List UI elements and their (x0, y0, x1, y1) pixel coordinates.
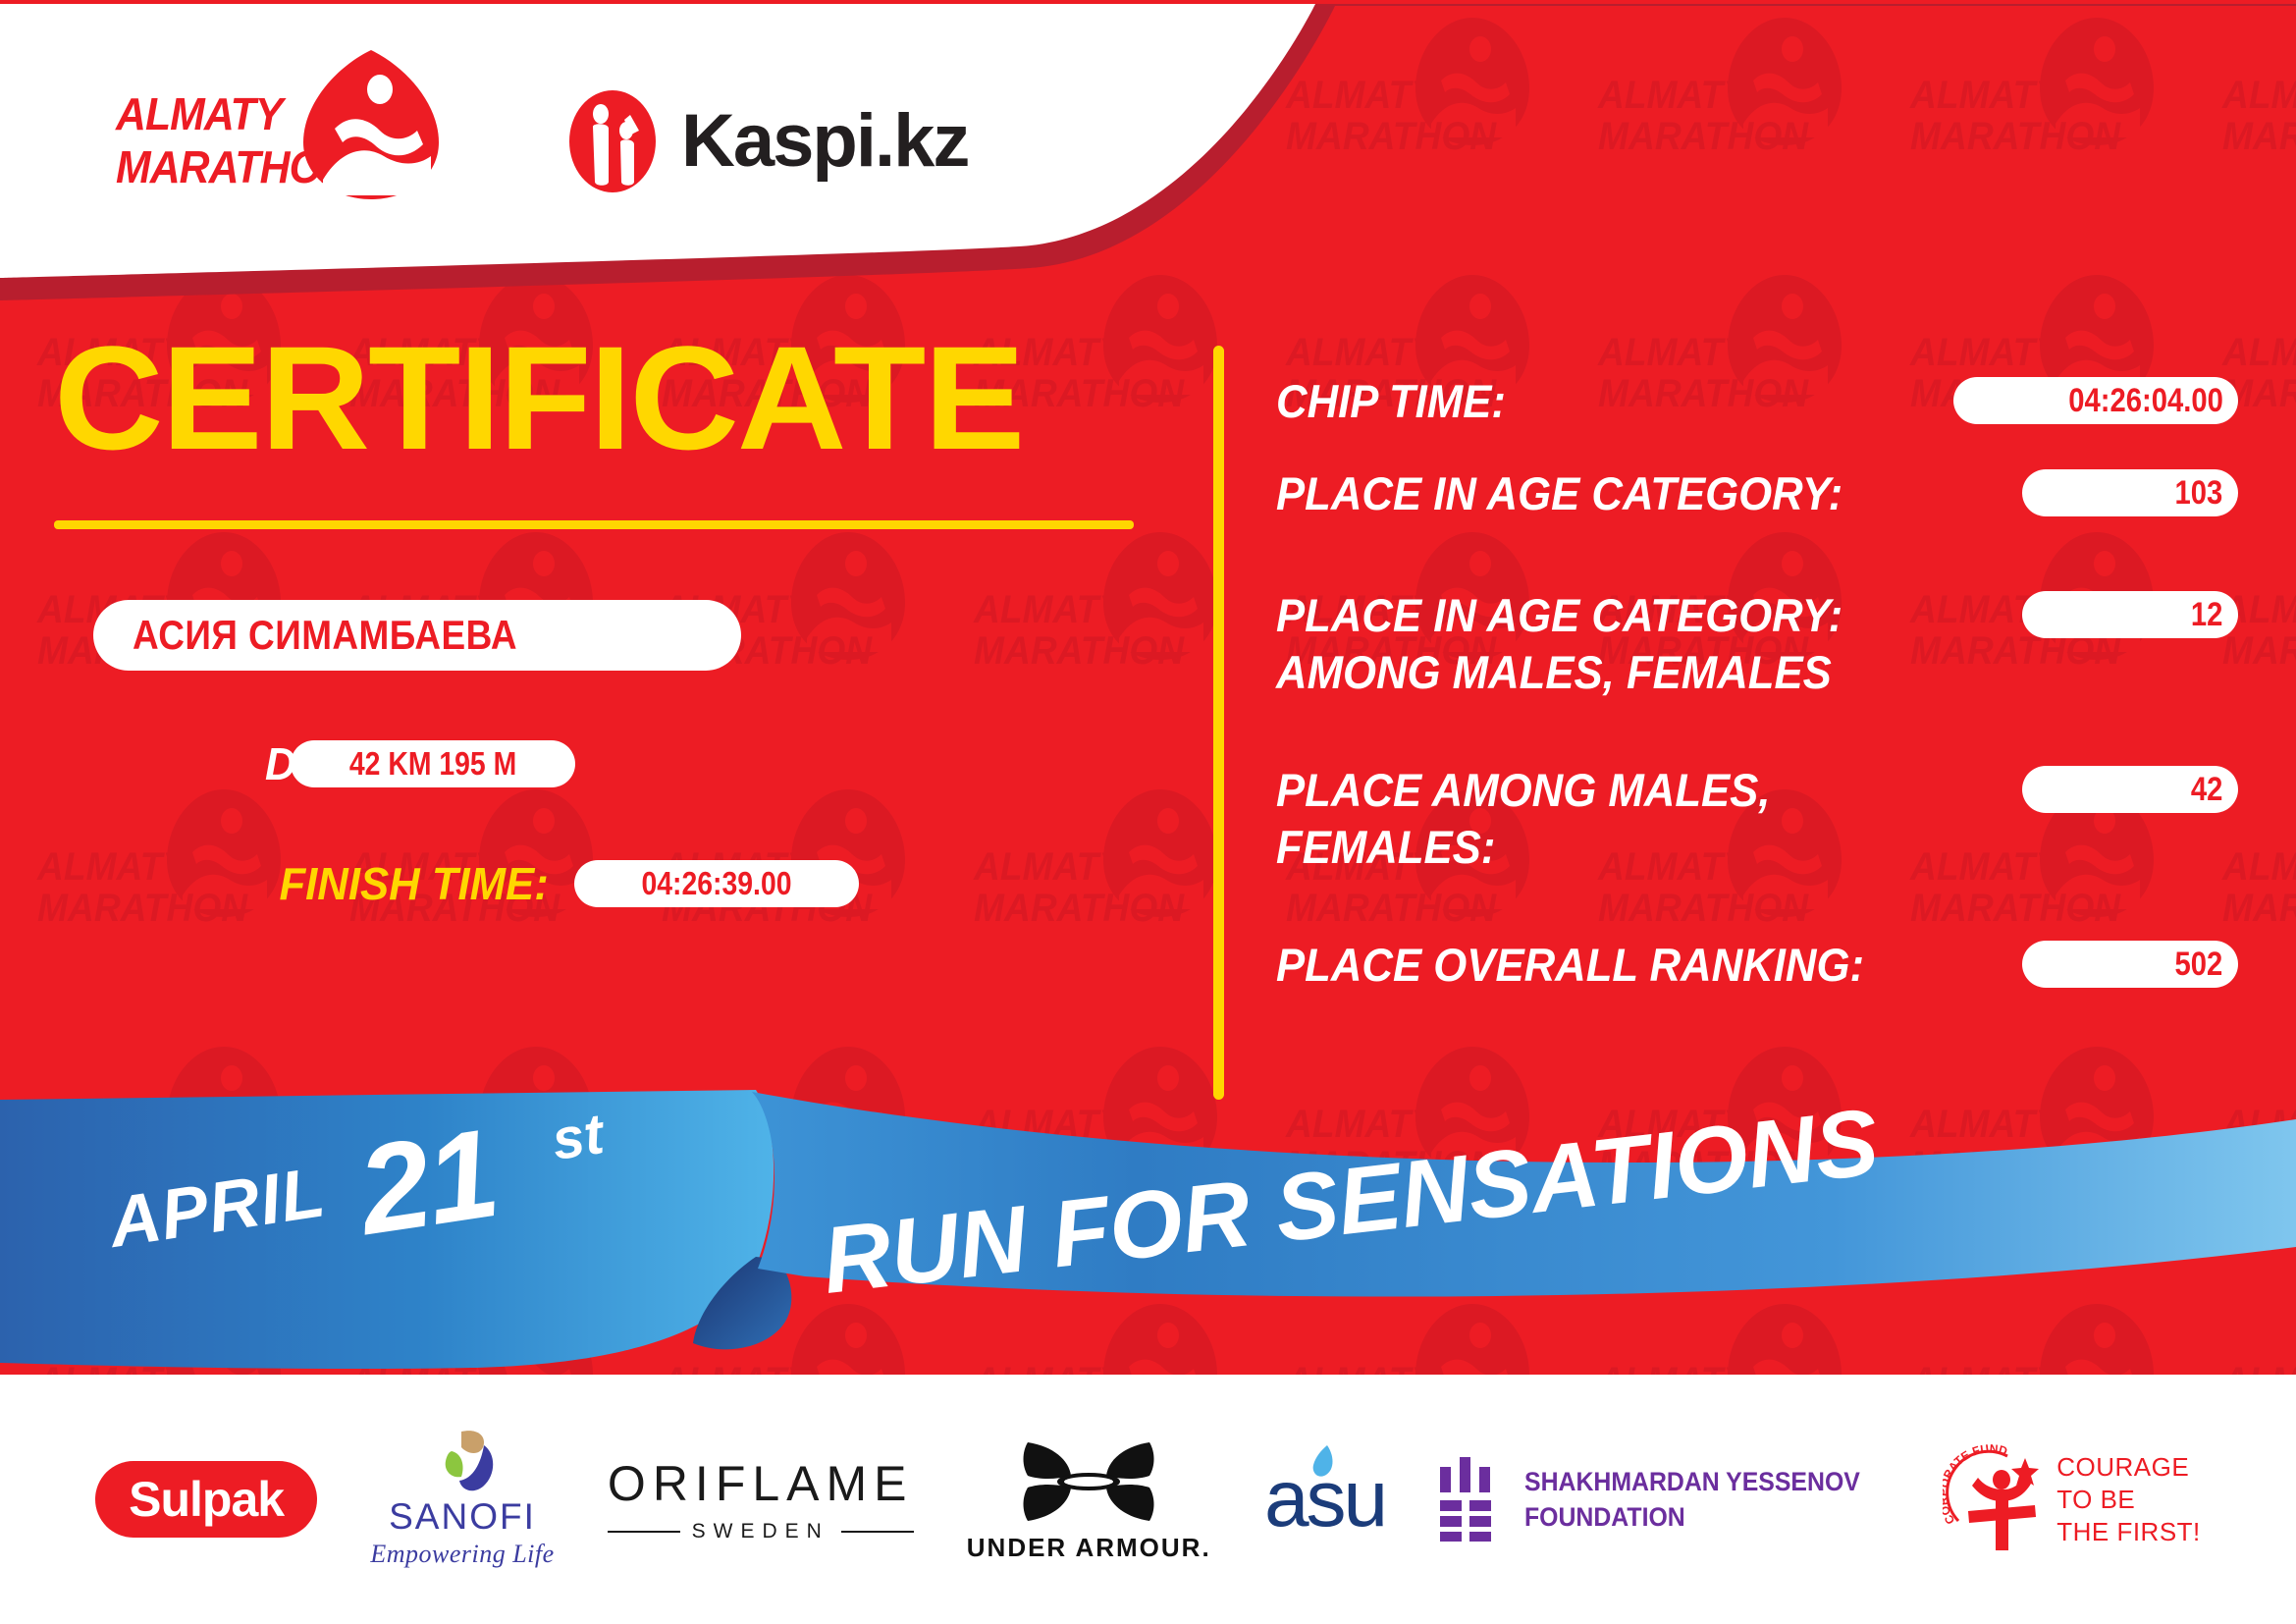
under-armour-mark-icon (1020, 1436, 1157, 1527)
sulpak-logo: Sulpak (95, 1461, 317, 1538)
sponsor-oriflame: ORIFLAME SWEDEN (608, 1455, 914, 1543)
place-among-males-females-row: PLACE AMONG MALES, FEMALES: 42 (1276, 762, 2258, 919)
under-armour-wordmark: UNDER ARMOUR. (967, 1533, 1211, 1563)
asu-logo: asu (1264, 1459, 1385, 1540)
courage-figure-icon: CORPORATE FUND (1943, 1444, 2047, 1554)
distance-row: DISTANCE: 42 KM 195 M (0, 737, 982, 790)
place-age-category-label: PLACE IN AGE CATEGORY: (1276, 465, 1842, 522)
yessenov-wordmark: SHAKHMARDAN YESSENOV FOUNDATION (1524, 1464, 1860, 1535)
right-panel: CHIP TIME: 04:26:04.00 PLACE IN AGE CATE… (1276, 373, 2258, 1029)
page-title: CERTIFICATE (54, 324, 1211, 471)
place-age-category-among-label: PLACE IN AGE CATEGORY: AMONG MALES, FEMA… (1276, 587, 1842, 701)
title-underline (54, 520, 1134, 529)
header-content: ALMATY MARATHON Kaspi.kz (0, 4, 1227, 278)
kaspi-logo: Kaspi.kz (565, 87, 968, 195)
under-armour-logo: UNDER ARMOUR. (967, 1436, 1211, 1563)
asu-teardrop-icon (1308, 1443, 1337, 1485)
chip-time-label: CHIP TIME: (1276, 373, 1506, 430)
kaspi-person-circle-icon (565, 87, 660, 195)
almaty-marathon-logo: ALMATY MARATHON (116, 68, 440, 215)
runner-drop-icon (297, 46, 445, 203)
place-age-category-among-row: PLACE IN AGE CATEGORY: AMONG MALES, FEMA… (1276, 587, 2258, 744)
finish-time-label: FINISH TIME: (279, 857, 548, 910)
place-overall-ranking-row: PLACE OVERALL RANKING: 502 (1276, 937, 2258, 1011)
place-age-category-value-pill: 103 (2022, 469, 2238, 516)
place-age-category-among-value: 12 (2191, 596, 2238, 634)
chip-time-row: CHIP TIME: 04:26:04.00 (1276, 373, 2258, 448)
participant-name: АСИЯ СИМАМБАЕВА (133, 612, 517, 659)
oriflame-sub: SWEDEN (608, 1520, 914, 1543)
place-age-category-value: 103 (2175, 474, 2238, 513)
left-panel: CERTIFICATE АСИЯ СИМАМБАЕВА DISTANCE: 42… (0, 324, 1178, 910)
oriflame-rule-left (608, 1531, 680, 1533)
certificate-canvas: ALMATY MARATHON ALMATY MARATHON (0, 0, 2296, 1624)
oriflame-rule-right (841, 1531, 914, 1533)
sponsor-courage-to-be-first: CORPORATE FUND COURAGE TO BE THE FIRST! (1943, 1444, 2201, 1554)
finish-time-value-pill: 04:26:39.00 (574, 860, 859, 907)
yessenov-foundation-logo: SHAKHMARDAN YESSENOV FOUNDATION (1438, 1457, 1890, 1542)
vertical-divider (1213, 346, 1224, 1100)
chip-time-value-pill: 04:26:04.00 (1953, 377, 2238, 424)
sponsor-bar: Sulpak SANOFI Empowering Life ORIFLAME S… (0, 1375, 2296, 1624)
courage-tagline: COURAGE TO BE THE FIRST! (2056, 1451, 2201, 1548)
courage-to-be-first-logo: CORPORATE FUND COURAGE TO BE THE FIRST! (1943, 1444, 2201, 1554)
place-age-category-row: PLACE IN AGE CATEGORY: 103 (1276, 465, 2258, 569)
sanofi-wordmark: SANOFI (389, 1496, 536, 1538)
sanofi-logo: SANOFI Empowering Life (370, 1430, 554, 1569)
sponsor-under-armour: UNDER ARMOUR. (967, 1436, 1211, 1563)
yessenov-mark-icon (1438, 1457, 1499, 1542)
sanofi-mark-icon (422, 1430, 503, 1494)
finish-time-row: FINISH TIME: 04:26:39.00 (0, 857, 982, 910)
ribbon-day-suffix: st (548, 1101, 608, 1173)
oriflame-wordmark: ORIFLAME (608, 1455, 914, 1512)
participant-name-field: АСИЯ СИМАМБАЕВА (93, 600, 741, 671)
finish-time-value: 04:26:39.00 (641, 865, 791, 902)
sanofi-tagline: Empowering Life (370, 1540, 554, 1569)
place-overall-ranking-label: PLACE OVERALL RANKING: (1276, 937, 1864, 994)
place-among-males-females-value-pill: 42 (2022, 766, 2238, 813)
sponsor-asu: asu (1264, 1459, 1385, 1540)
place-among-males-females-label: PLACE AMONG MALES, FEMALES: (1276, 762, 1770, 876)
place-age-category-among-value-pill: 12 (2022, 591, 2238, 638)
oriflame-tagline: SWEDEN (692, 1520, 829, 1543)
sponsor-sanofi: SANOFI Empowering Life (370, 1430, 554, 1569)
oriflame-logo: ORIFLAME SWEDEN (608, 1455, 914, 1543)
place-overall-ranking-value-pill: 502 (2022, 941, 2238, 988)
ribbon-day: 21 (349, 1101, 506, 1264)
kaspi-wordmark: Kaspi.kz (681, 104, 968, 179)
distance-value: 42 KM 195 M (349, 745, 516, 783)
place-among-males-females-value: 42 (2191, 771, 2238, 809)
place-overall-ranking-value: 502 (2175, 946, 2238, 984)
chip-time-value: 04:26:04.00 (2068, 382, 2238, 420)
sponsor-yessenov-foundation: SHAKHMARDAN YESSENOV FOUNDATION (1438, 1457, 1890, 1542)
sponsor-sulpak: Sulpak (95, 1461, 317, 1538)
